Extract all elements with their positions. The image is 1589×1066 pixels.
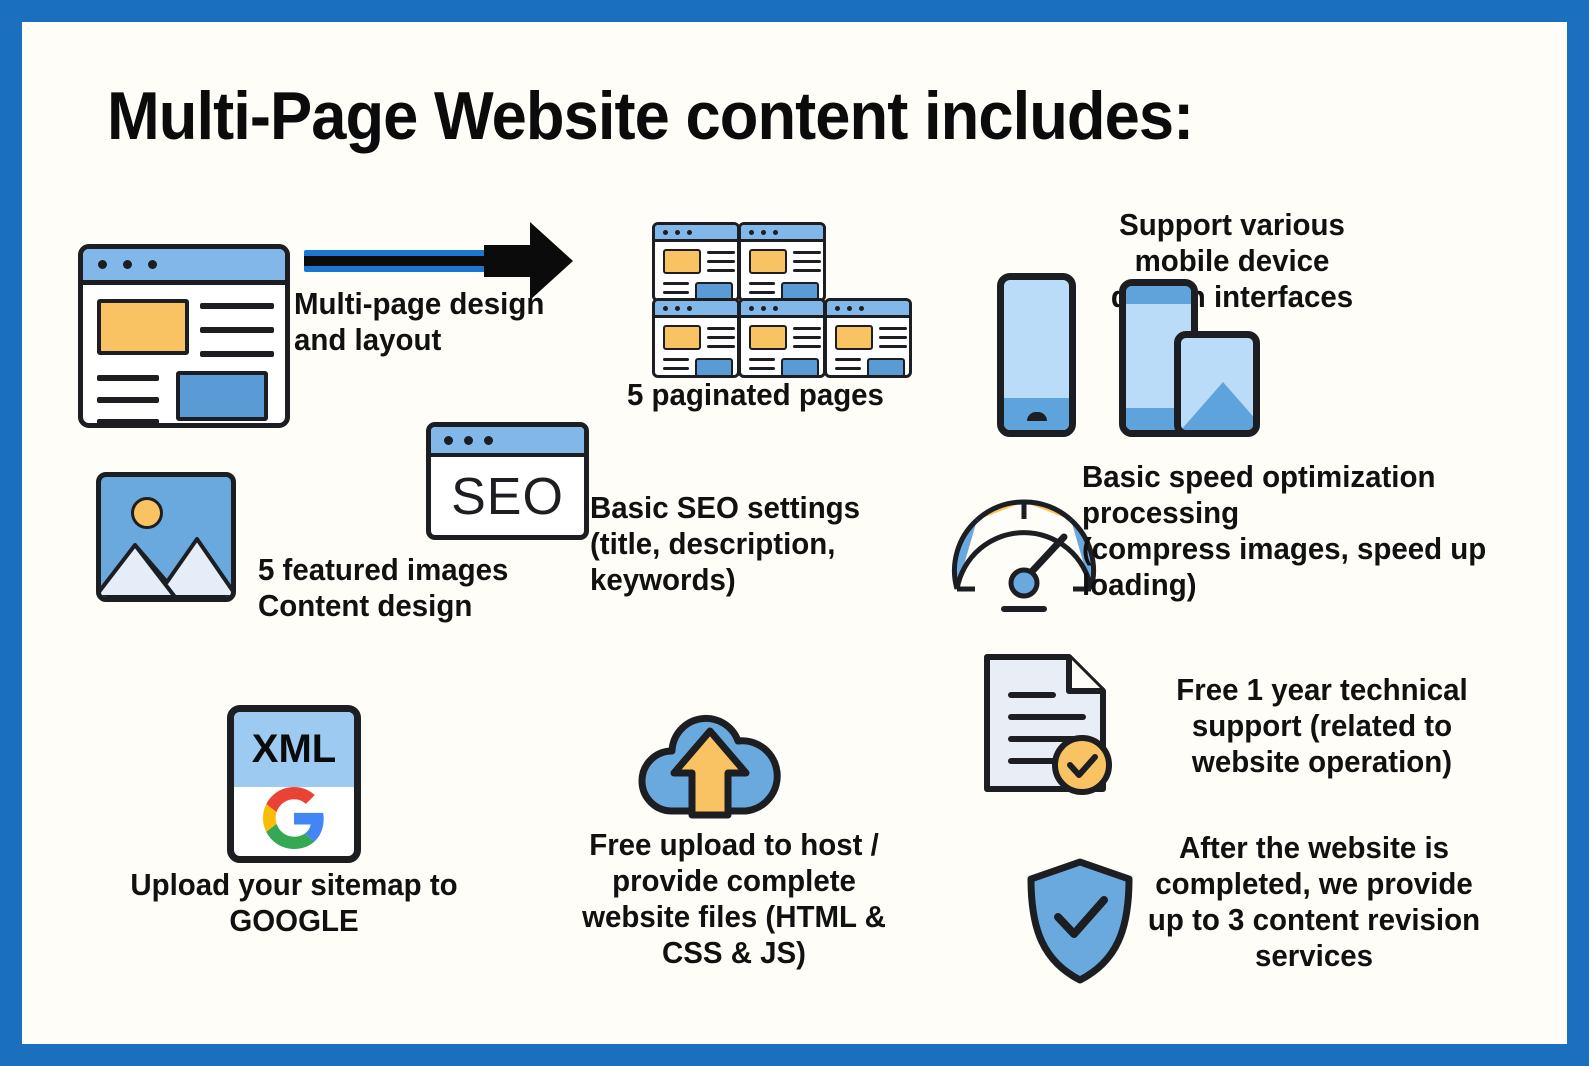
text-line (793, 345, 821, 348)
browser-titlebar (83, 249, 285, 285)
label-speed-optimization: Basic speed optimization processing (com… (1082, 459, 1538, 603)
text-line (707, 269, 735, 272)
browser-dot-icon (464, 436, 473, 445)
text-line (749, 282, 775, 285)
label-mobile-support: Support various mobile device design int… (1061, 207, 1403, 315)
mini-browser-window (652, 298, 740, 378)
browser-dot-icon (773, 306, 778, 311)
text-line (97, 419, 159, 425)
mini-browser-window (652, 222, 740, 302)
text-line (793, 260, 821, 263)
tablet-mountain-shape (1181, 382, 1260, 430)
content-block-blue (867, 358, 905, 378)
browser-content (827, 318, 909, 375)
content-block-blue (176, 371, 268, 421)
content-block-orange (663, 249, 701, 274)
text-line (97, 397, 159, 403)
text-line (663, 367, 689, 370)
text-line (793, 269, 821, 272)
browser-dot-icon (663, 306, 668, 311)
browser-dot-icon (148, 260, 157, 269)
text-line (663, 291, 689, 294)
image-placeholder-icon (96, 472, 236, 602)
browser-titlebar (741, 301, 823, 318)
phone-statusbar (1126, 286, 1191, 304)
arrow-line-black (304, 256, 504, 266)
label-featured-images: 5 featured images Content design (258, 552, 572, 624)
text-line (793, 251, 821, 254)
browser-content (655, 242, 737, 299)
right-arrow-icon (304, 250, 504, 272)
text-line (200, 351, 274, 357)
text-line (749, 367, 775, 370)
text-line (879, 336, 907, 339)
text-line (793, 327, 821, 330)
browser-dot-icon (484, 436, 493, 445)
browser-titlebar (655, 225, 737, 242)
browser-dot-icon (98, 260, 107, 269)
label-content-revision: After the website is completed, we provi… (1105, 830, 1523, 974)
browser-dot-icon (847, 306, 852, 311)
mini-browser-window (824, 298, 912, 378)
content-block-orange (97, 299, 189, 355)
text-line (707, 327, 735, 330)
browser-dot-icon (675, 230, 680, 235)
browser-titlebar (741, 225, 823, 242)
text-line (97, 375, 159, 381)
text-line (835, 367, 861, 370)
text-line (707, 336, 735, 339)
browser-window-icon (78, 244, 290, 428)
text-line (663, 358, 689, 361)
browser-content (741, 242, 823, 299)
seo-browser-icon: SEO (426, 422, 589, 540)
label-seo-settings: Basic SEO settings (title, description, … (590, 490, 904, 598)
browser-dot-icon (859, 306, 864, 311)
browser-dot-icon (687, 230, 692, 235)
seo-label: SEO (431, 459, 584, 535)
label-technical-support: Free 1 year technical support (related t… (1123, 672, 1522, 780)
browser-dot-icon (123, 260, 132, 269)
mountains-shape (101, 477, 231, 597)
text-line (200, 303, 274, 309)
content-block-blue (695, 358, 733, 378)
content-block-orange (663, 325, 701, 350)
poster-stage: Multi-Page Website content includes: (22, 22, 1567, 1044)
phone-home-button-icon (1027, 412, 1047, 421)
text-line (663, 282, 689, 285)
text-line (707, 260, 735, 263)
text-line (835, 358, 861, 361)
text-line (793, 336, 821, 339)
xml-google-sitemap-icon: XML (227, 705, 361, 863)
google-logo-icon (234, 787, 354, 850)
browser-dot-icon (835, 306, 840, 311)
check-badge (1055, 738, 1109, 792)
browser-dot-icon (675, 306, 680, 311)
page-title: Multi-Page Website content includes: (107, 77, 1316, 155)
browser-dot-icon (749, 306, 754, 311)
browser-titlebar (655, 301, 737, 318)
browser-content (655, 318, 737, 375)
browser-dot-icon (773, 230, 778, 235)
mini-browser-window (738, 222, 826, 302)
content-block-blue (781, 358, 819, 378)
text-line (749, 358, 775, 361)
browser-dot-icon (687, 306, 692, 311)
poster-frame: Multi-Page Website content includes: (22, 22, 1567, 1044)
text-line (879, 327, 907, 330)
text-line (879, 345, 907, 348)
browser-titlebar (431, 427, 584, 457)
content-block-orange (749, 325, 787, 350)
label-sitemap-upload: Upload your sitemap to GOOGLE (95, 867, 494, 939)
text-line (749, 291, 775, 294)
content-block-orange (749, 249, 787, 274)
browser-content (83, 285, 285, 423)
browser-dot-icon (761, 230, 766, 235)
content-block-orange (835, 325, 873, 350)
cloud-upload-icon (634, 703, 786, 823)
browser-titlebar (827, 301, 909, 318)
browser-content (741, 318, 823, 375)
document-check-icon (977, 647, 1117, 799)
text-line (707, 251, 735, 254)
label-free-upload: Free upload to host / provide complete w… (544, 827, 924, 971)
mini-browser-window (738, 298, 826, 378)
tablet-device-icon (1174, 331, 1260, 437)
label-multipage-design: Multi-page design and layout (294, 286, 589, 358)
label-paginated-pages: 5 paginated pages (627, 377, 931, 413)
browser-dot-icon (444, 436, 453, 445)
text-line (707, 345, 735, 348)
browser-dot-icon (663, 230, 668, 235)
text-line (200, 327, 274, 333)
xml-label: XML (234, 712, 354, 787)
browser-dot-icon (761, 306, 766, 311)
browser-dot-icon (749, 230, 754, 235)
